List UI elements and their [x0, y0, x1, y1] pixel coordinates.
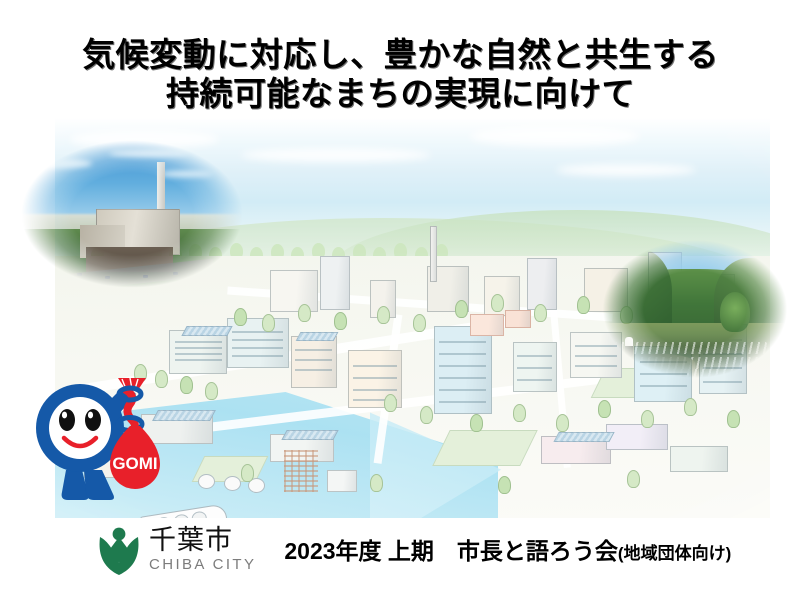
tree — [455, 300, 468, 318]
photo-paddy-water — [611, 354, 695, 377]
warehouse — [670, 446, 728, 472]
tree — [205, 382, 218, 400]
tree — [370, 474, 383, 492]
building — [291, 336, 337, 388]
title-line-1: 気候変動に対応し、豊かな自然と共生する — [0, 36, 801, 75]
title-line-2: 持続可能なまちの実現に向けて — [0, 75, 801, 114]
gomi-reduction-mascot: GOMI — [22, 362, 162, 512]
tree — [470, 414, 483, 432]
house — [470, 314, 504, 336]
tree — [727, 410, 740, 428]
photo-tree — [720, 292, 750, 332]
slide-canvas: 気候変動に対応し、豊かな自然と共生する 持続可能なまちの実現に向けて — [0, 0, 801, 600]
chiba-city-logo: 千葉市 CHIBA CITY — [96, 523, 256, 575]
chiba-city-logo-mark — [96, 523, 142, 575]
tree — [241, 464, 254, 482]
tree — [377, 306, 390, 324]
tree — [627, 470, 640, 488]
tree — [491, 294, 504, 312]
chiba-city-logo-text: 千葉市 CHIBA CITY — [149, 527, 256, 572]
building — [270, 270, 318, 312]
footer: 千葉市 CHIBA CITY 2023年度 上期 市長と語ろう会 (地域団体向け… — [0, 516, 801, 582]
house — [505, 310, 531, 328]
incineration-plant-photo — [18, 138, 246, 290]
photo-person — [625, 337, 633, 357]
building — [513, 342, 557, 392]
building — [169, 330, 227, 374]
solar-panel — [296, 332, 339, 341]
tree — [262, 314, 275, 332]
building — [227, 318, 289, 368]
tree — [298, 304, 311, 322]
footer-caption-small: (地域団体向け) — [618, 539, 731, 564]
storage-tank — [198, 474, 215, 489]
tree — [534, 304, 547, 322]
mascot-bag-label: GOMI — [112, 454, 157, 473]
storage-tank — [224, 476, 241, 491]
page-title: 気候変動に対応し、豊かな自然と共生する 持続可能なまちの実現に向けて — [0, 36, 801, 114]
tree — [498, 476, 511, 494]
factory-chimney — [430, 226, 437, 282]
building — [527, 258, 557, 310]
tree — [577, 296, 590, 314]
footer-caption: 2023年度 上期 市長と語ろう会 (地域団体向け) — [284, 532, 731, 566]
logo-text-jp: 千葉市 — [149, 527, 256, 554]
mascot-legs — [62, 470, 114, 500]
tree — [180, 376, 193, 394]
tree — [513, 404, 526, 422]
solar-panel — [553, 432, 614, 442]
photo-car — [173, 272, 178, 275]
photo-car — [143, 275, 148, 278]
satoyama-nature-photo — [600, 238, 790, 380]
port-building — [327, 470, 357, 492]
tree — [420, 406, 433, 424]
tree — [384, 394, 397, 412]
cloud-shape — [556, 164, 696, 176]
building — [434, 326, 492, 414]
photo-paddy-row — [615, 342, 767, 355]
solar-panel — [181, 326, 232, 336]
tree — [641, 410, 654, 428]
footer-caption-main: 2023年度 上期 市長と語ろう会 — [284, 532, 618, 566]
photo-car — [105, 276, 110, 279]
warehouse — [606, 424, 668, 450]
park-lawn — [432, 430, 538, 466]
cloud-shape — [241, 148, 431, 162]
industrial-lattice-tower — [284, 450, 318, 492]
building — [320, 256, 350, 310]
solar-panel — [281, 430, 338, 440]
tree — [684, 398, 697, 416]
tree — [234, 308, 247, 326]
cloud-shape — [470, 126, 640, 146]
tree — [334, 312, 347, 330]
tree — [556, 414, 569, 432]
logo-text-en: CHIBA CITY — [149, 557, 256, 572]
tree — [598, 400, 611, 418]
tree — [413, 314, 426, 332]
